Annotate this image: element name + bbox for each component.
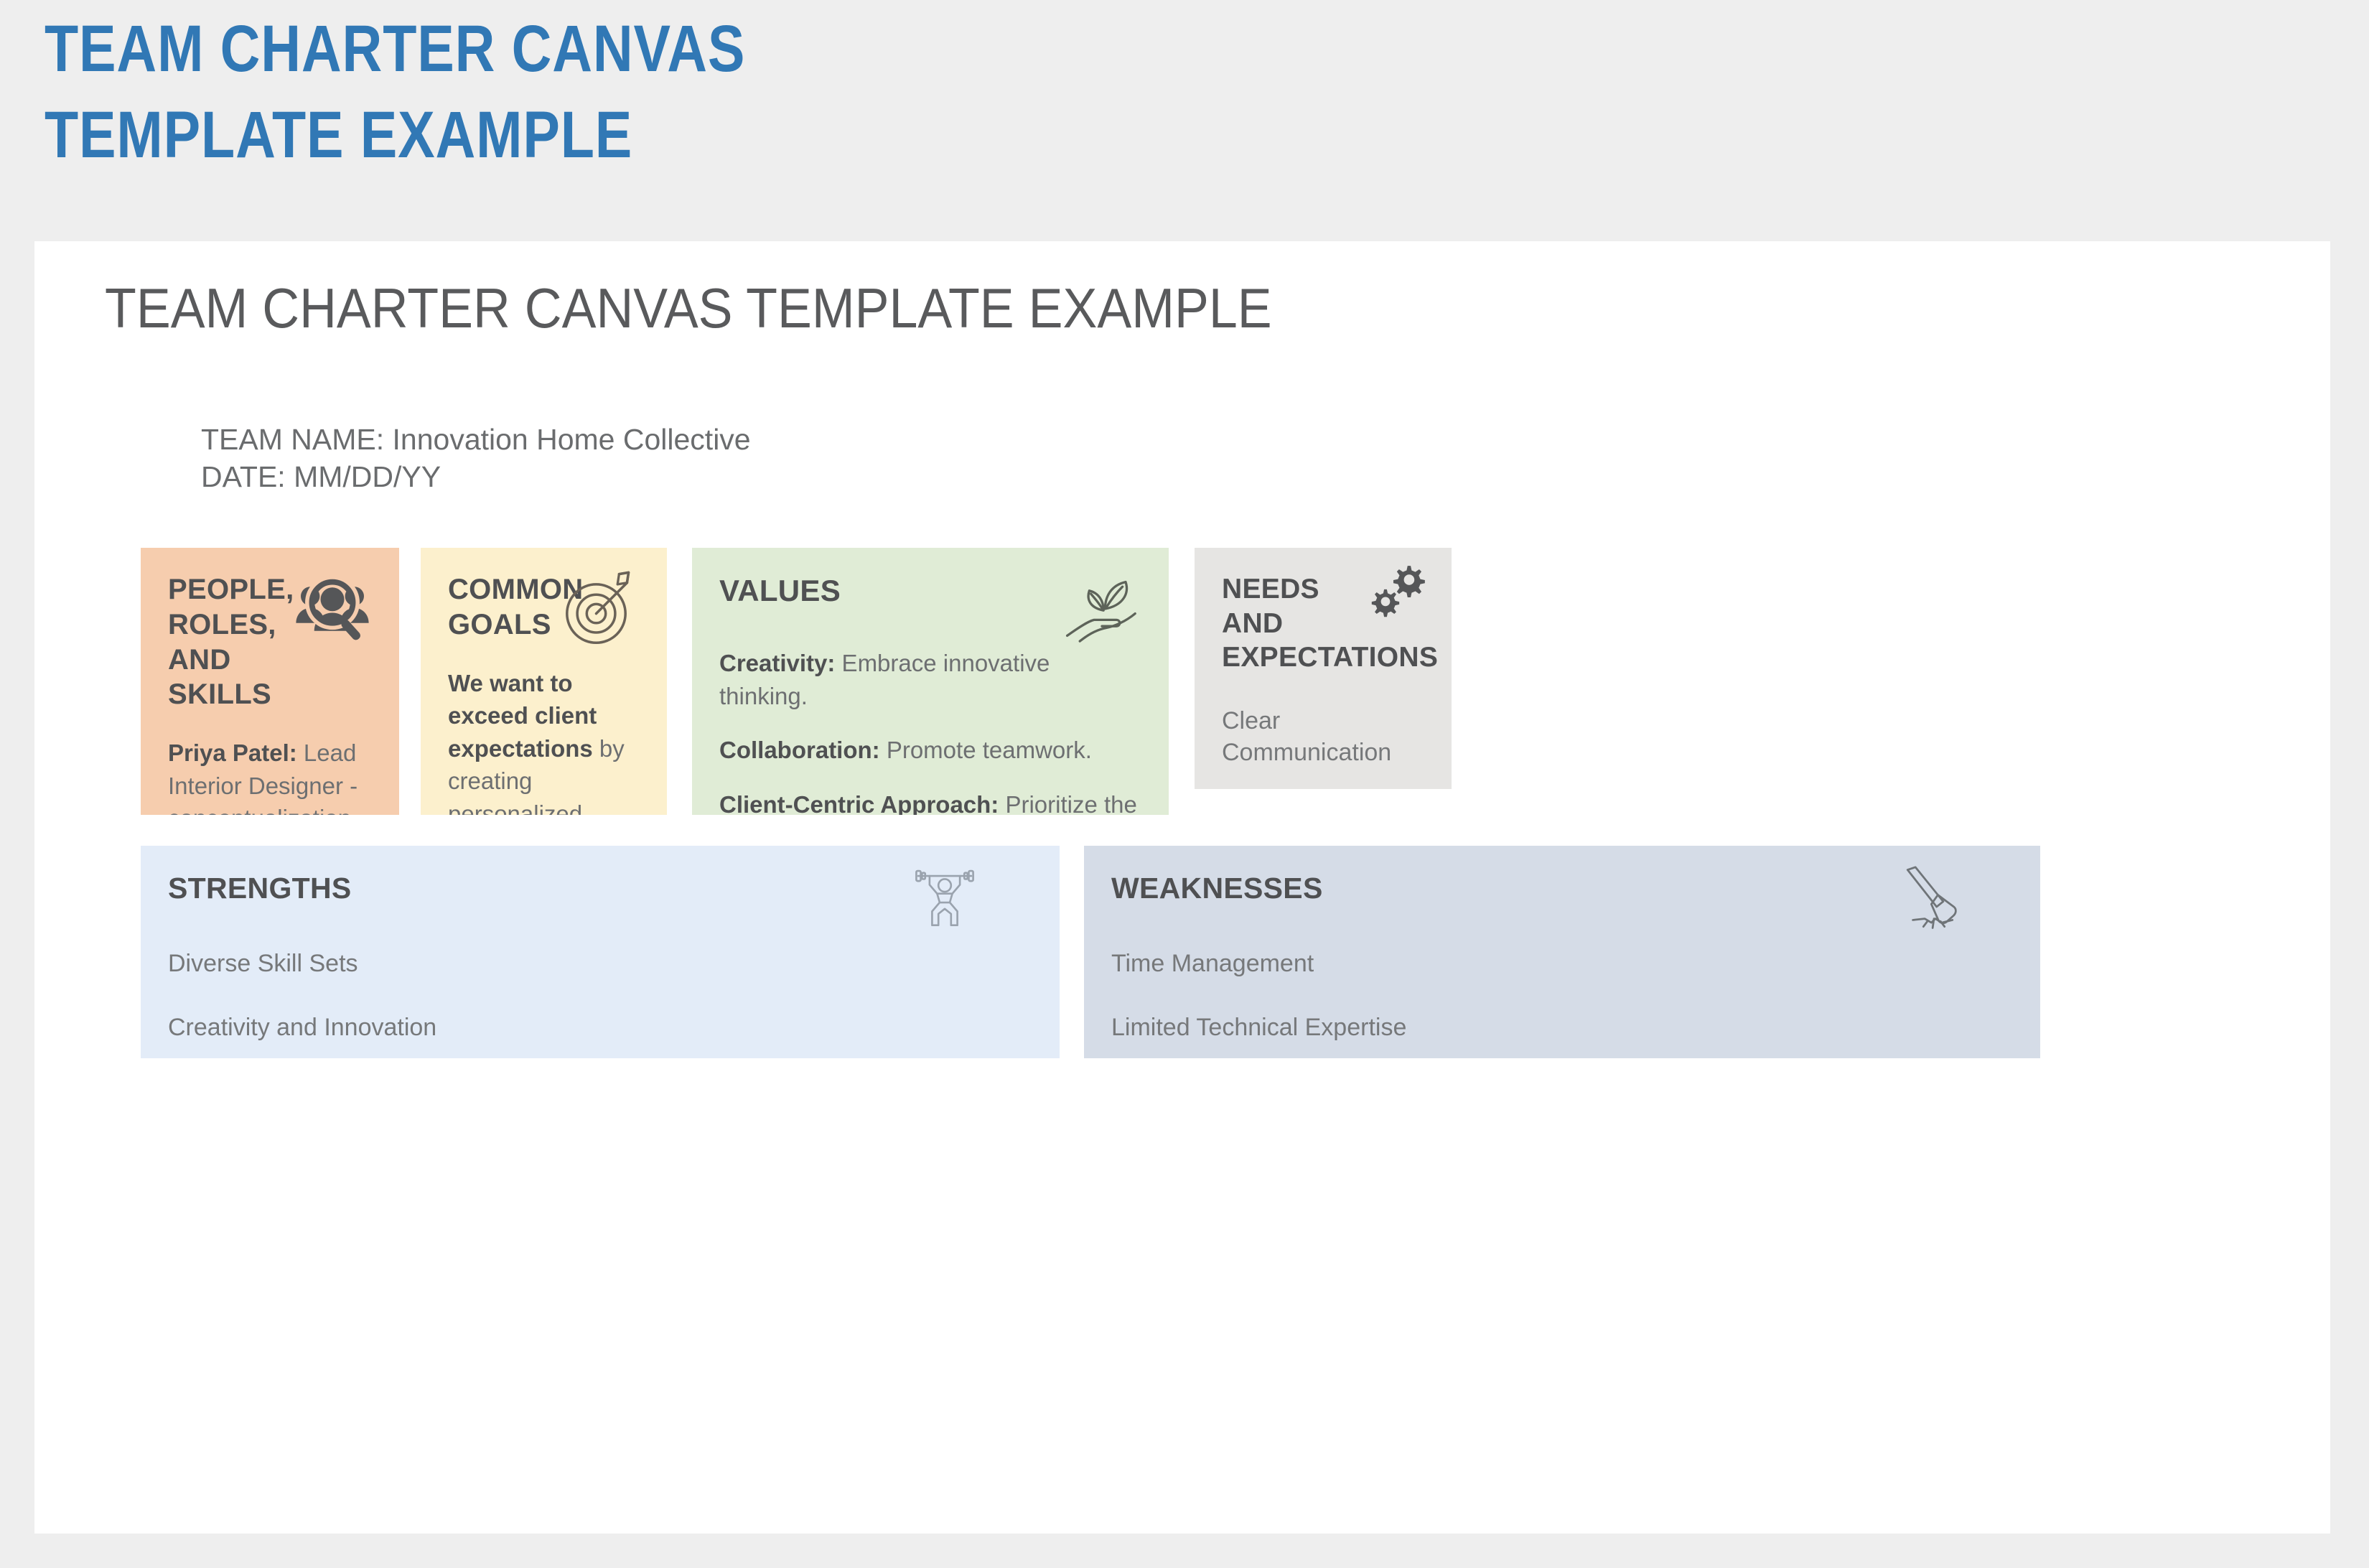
card-header: COMMON GOALS bbox=[448, 572, 640, 643]
card-body: Diverse Skill Sets Creativity and Innova… bbox=[168, 948, 1032, 1058]
value-item: Client-Centric Approach: Prioritize the … bbox=[719, 788, 1141, 815]
person-name: Priya Patel: bbox=[168, 739, 297, 766]
card-people-roles-and-skills[interactable]: PEOPLE, ROLES, AND SKILLS Priya Patel: L… bbox=[141, 548, 399, 815]
hand-sprout-icon bbox=[1062, 569, 1141, 648]
value-item: Collaboration: Promote teamwork. bbox=[719, 734, 1141, 767]
card-title: VALUES bbox=[719, 572, 1090, 609]
canvas-sheet: TEAM CHARTER CANVAS TEMPLATE EXAMPLE TEA… bbox=[34, 241, 2330, 1534]
card-weaknesses[interactable]: WEAKNESSES Time Management Limited Techn… bbox=[1084, 846, 2040, 1058]
card-body: Clear Communication Creative Freedom Pro… bbox=[1222, 705, 1424, 789]
goal-paragraph: We want to exceed client expectations by… bbox=[448, 667, 640, 815]
people-search-icon bbox=[293, 569, 372, 648]
hammer-crack-icon bbox=[1901, 866, 1967, 932]
card-body: Creativity: Embrace innovative thinking.… bbox=[719, 647, 1141, 815]
card-header: STRENGTHS bbox=[168, 870, 1032, 920]
gears-icon bbox=[1367, 562, 1429, 624]
card-header: WEAKNESSES bbox=[1111, 870, 2013, 920]
card-body: Time Management Limited Technical Expert… bbox=[1111, 948, 2013, 1058]
card-title: STRENGTHS bbox=[168, 870, 929, 906]
team-meta: TEAM NAME: Innovation Home Collective DA… bbox=[201, 421, 751, 496]
banner-title-line-1: TEAM CHARTER CANVAS bbox=[45, 16, 1492, 82]
card-common-goals[interactable]: COMMON GOALS We want to exceed client ex… bbox=[421, 548, 667, 815]
target-arrow-icon bbox=[561, 569, 640, 648]
list-item: Limited Technical Expertise bbox=[1111, 1012, 2013, 1043]
card-values[interactable]: VALUES Creativity: Embrace innovative th… bbox=[692, 548, 1169, 815]
team-name-line: TEAM NAME: Innovation Home Collective bbox=[201, 421, 751, 458]
card-title: WEAKNESSES bbox=[1111, 870, 1905, 906]
card-strengths[interactable]: STRENGTHS Diverse Skill Sets Creativity … bbox=[141, 846, 1060, 1058]
card-body: We want to exceed client expectations by… bbox=[448, 667, 640, 815]
list-item: Creativity and Innovation bbox=[168, 1012, 1032, 1043]
card-header: NEEDS AND EXPECTATIONS bbox=[1222, 572, 1424, 675]
banner-title: TEAM CHARTER CANVAS TEMPLATE EXAMPLE bbox=[45, 16, 1767, 188]
card-header: VALUES bbox=[719, 572, 1141, 622]
banner-title-line-2: TEMPLATE EXAMPLE bbox=[45, 102, 1492, 168]
list-item: Clear Communication bbox=[1222, 705, 1424, 768]
page-title: TEAM CHARTER CANVAS TEMPLATE EXAMPLE bbox=[105, 276, 1272, 341]
value-label: Collaboration: bbox=[719, 737, 880, 763]
value-label: Client-Centric Approach: bbox=[719, 791, 999, 815]
goal-lead: We want to exceed client expectations bbox=[448, 670, 597, 762]
date-line: DATE: MM/DD/YY bbox=[201, 458, 751, 495]
list-item: Time Management bbox=[1111, 948, 2013, 979]
weightlifter-icon bbox=[913, 866, 976, 929]
value-text: Promote teamwork. bbox=[880, 737, 1092, 763]
list-item: Diverse Skill Sets bbox=[168, 948, 1032, 979]
card-needs-and-expectations[interactable]: NEEDS AND EXPECTATIONS Clear Communicati… bbox=[1195, 548, 1452, 789]
value-label: Creativity: bbox=[719, 650, 835, 676]
card-body: Priya Patel: Lead Interior Designer - co… bbox=[168, 737, 372, 815]
person-entry: Priya Patel: Lead Interior Designer - co… bbox=[168, 737, 372, 815]
card-header: PEOPLE, ROLES, AND SKILLS bbox=[168, 572, 372, 712]
value-item: Creativity: Embrace innovative thinking. bbox=[719, 647, 1141, 712]
